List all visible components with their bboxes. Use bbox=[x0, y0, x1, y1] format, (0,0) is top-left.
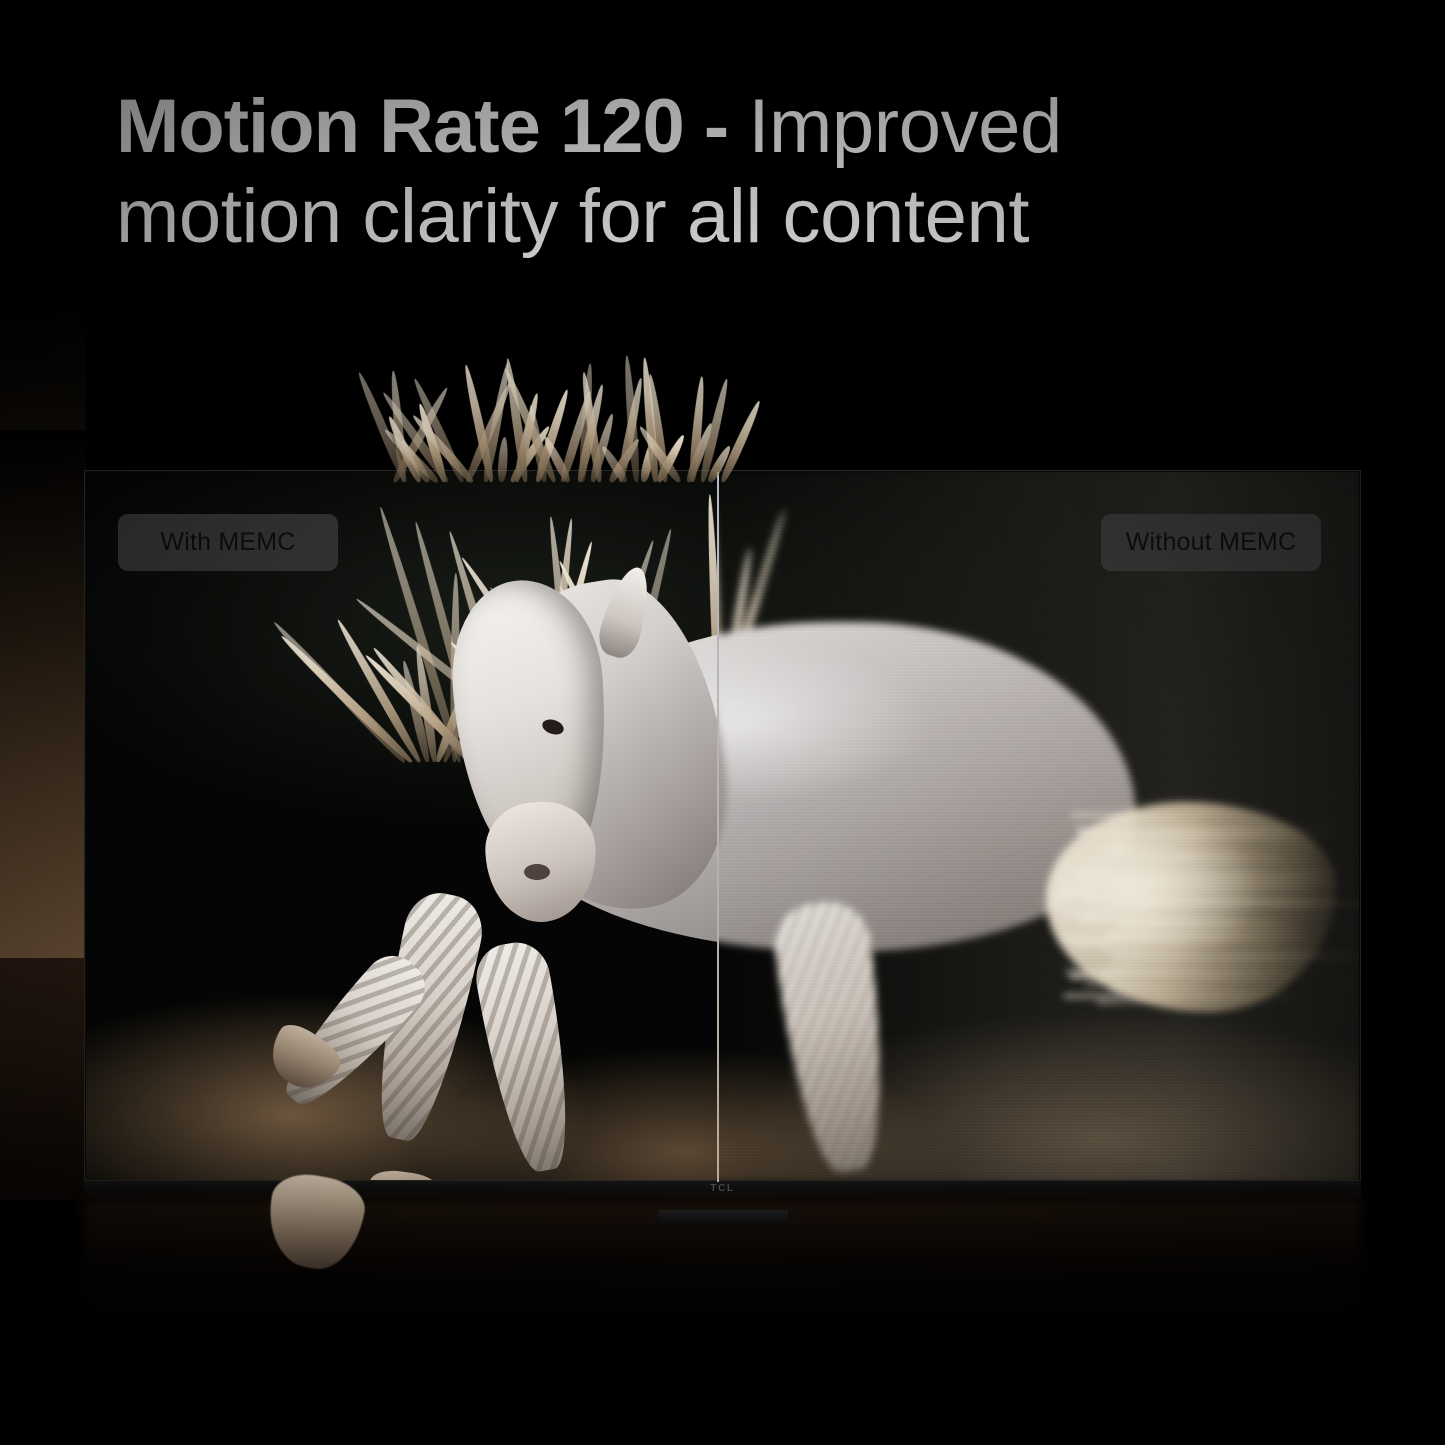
page-title: Motion Rate 120 - Improved motion clarit… bbox=[116, 82, 1276, 261]
horse-front-right-leg bbox=[471, 937, 584, 1176]
tv-stand bbox=[658, 1210, 788, 1224]
horse-muzzle bbox=[483, 799, 599, 925]
badge-with-memc-label: With MEMC bbox=[160, 528, 295, 557]
horse-subject-blur bbox=[719, 472, 1359, 1182]
scene-blurred bbox=[719, 472, 1359, 1182]
ambient-glow-top bbox=[0, 300, 86, 450]
panel-without-memc bbox=[719, 472, 1359, 1182]
tv-floor-reflection bbox=[84, 1199, 1361, 1369]
tv-screen bbox=[86, 472, 1359, 1182]
comparison-divider bbox=[717, 472, 719, 1182]
scene-sharp bbox=[86, 472, 717, 1182]
ambient-floor-left bbox=[0, 958, 86, 1200]
panel-with-memc bbox=[86, 472, 717, 1182]
promo-canvas: Motion Rate 120 - Improved motion clarit… bbox=[0, 0, 1445, 1445]
horse-mane-breakout bbox=[378, 352, 728, 482]
badge-with-memc[interactable]: With MEMC bbox=[118, 514, 338, 571]
headline-strong: Motion Rate 120 - bbox=[116, 84, 748, 169]
horse-subject bbox=[86, 472, 717, 1182]
tv-device: TCL bbox=[84, 470, 1361, 1198]
badge-without-memc[interactable]: Without MEMC bbox=[1101, 514, 1321, 571]
badge-without-memc-label: Without MEMC bbox=[1126, 528, 1296, 557]
tcl-brand-logo: TCL bbox=[710, 1183, 734, 1194]
horse-nostril bbox=[524, 864, 550, 880]
tv-bottom-bezel: TCL bbox=[84, 1180, 1361, 1198]
ambient-glow-left bbox=[0, 430, 86, 960]
horse-tail-blur bbox=[1046, 802, 1336, 1012]
